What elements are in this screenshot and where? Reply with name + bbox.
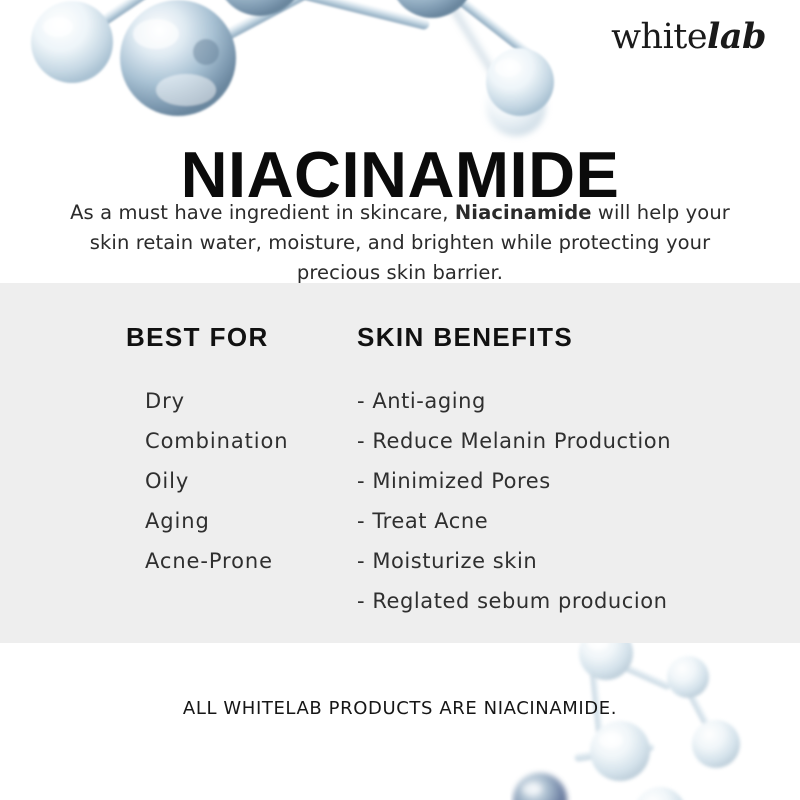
brand-logo-white: white xyxy=(611,17,707,57)
subtitle-lead: As a must have ingredient in skincare, xyxy=(70,201,455,224)
best-for-list: Dry Combination Oily Aging Acne-Prone xyxy=(126,353,356,581)
list-item: Oily xyxy=(145,461,356,501)
list-item: - Anti-aging xyxy=(357,381,757,421)
benefits-section: BEST FOR Dry Combination Oily Aging Acne… xyxy=(0,283,800,643)
bottom-white-band xyxy=(0,643,800,800)
best-for-heading: BEST FOR xyxy=(126,283,356,353)
subtitle-emphasis: Niacinamide xyxy=(455,201,592,224)
skin-benefits-column: SKIN BENEFITS - Anti-aging - Reduce Mela… xyxy=(357,283,757,621)
brand-logo-lab: lab xyxy=(707,16,766,57)
list-item: Acne-Prone xyxy=(145,541,356,581)
page-subtitle: As a must have ingredient in skincare, N… xyxy=(70,198,730,288)
skin-benefits-list: - Anti-aging - Reduce Melanin Production… xyxy=(357,353,757,621)
list-item: Aging xyxy=(145,501,356,541)
list-item: Dry xyxy=(145,381,356,421)
list-item: - Reglated sebum producion xyxy=(357,581,757,621)
list-item: - Treat Acne xyxy=(357,501,757,541)
list-item: Combination xyxy=(145,421,356,461)
footer-note: ALL WHITELAB PRODUCTS ARE NIACINAMIDE. xyxy=(0,698,800,719)
infographic-poster: whitelab NIACINAMIDE As a must have ingr… xyxy=(0,0,800,800)
list-item: - Reduce Melanin Production xyxy=(357,421,757,461)
skin-benefits-heading: SKIN BENEFITS xyxy=(357,283,757,353)
list-item: - Minimized Pores xyxy=(357,461,757,501)
best-for-column: BEST FOR Dry Combination Oily Aging Acne… xyxy=(126,283,356,581)
list-item: - Moisturize skin xyxy=(357,541,757,581)
brand-logo[interactable]: whitelab xyxy=(611,16,766,57)
